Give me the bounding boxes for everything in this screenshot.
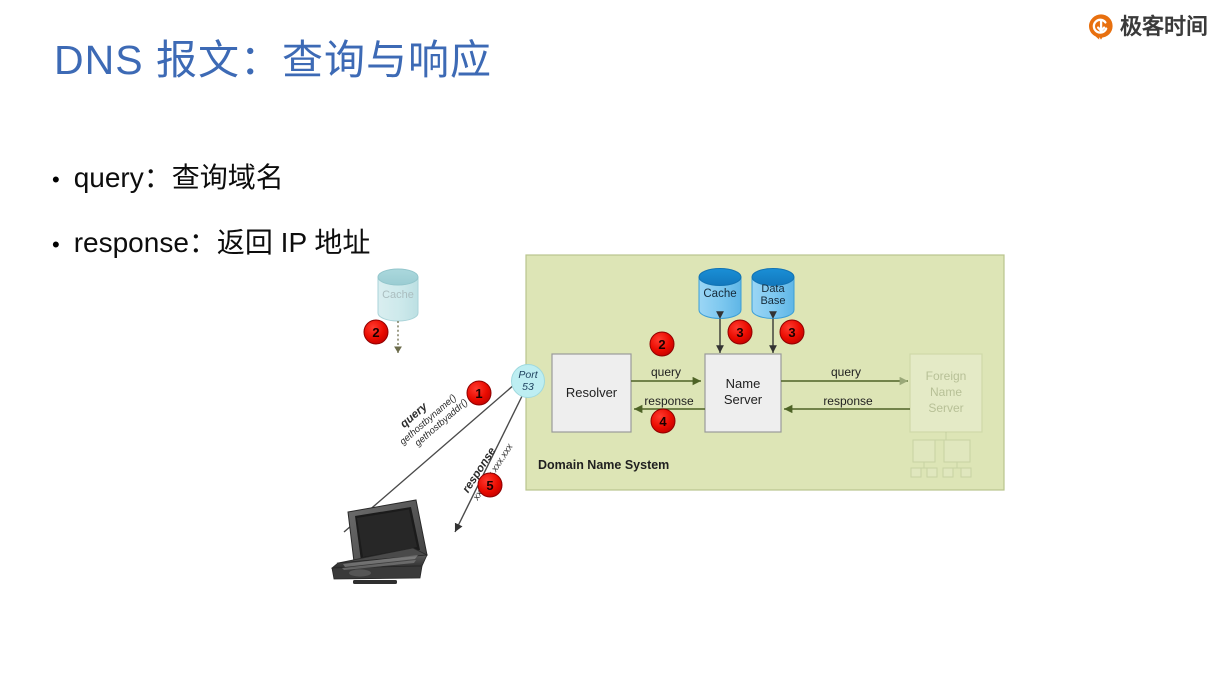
step-badge-2-query-number: 2 xyxy=(658,337,665,352)
port-badge-line2: 53 xyxy=(522,381,534,393)
step-badge-2-cache: 2 xyxy=(364,320,388,344)
client-laptop-icon xyxy=(332,500,427,584)
foreign-name-server-box: Foreign Name Server xyxy=(910,354,982,432)
bullet-text: response：返回 IP 地址 xyxy=(74,221,371,261)
resolver-label: Resolver xyxy=(566,385,618,400)
bullet-text: query：查询域名 xyxy=(74,156,284,196)
name-server-database-cylinder: Data Base xyxy=(752,269,794,319)
foreign-name-server-label-line3: Server xyxy=(928,401,963,415)
name-server-label-line2: Server xyxy=(724,392,763,407)
step-badge-3-cache: 3 xyxy=(728,320,752,344)
port-badge-line1: Port xyxy=(518,369,538,381)
bullet-marker: • xyxy=(52,234,60,256)
client-query-label: query gethostbyname() gethostbyaddr() xyxy=(389,379,470,456)
step-badge-4-number: 4 xyxy=(659,414,667,429)
step-badge-3-cache-number: 3 xyxy=(736,325,743,340)
brand-name: 极客时间 xyxy=(1120,16,1208,38)
step-badge-2-query: 2 xyxy=(650,332,674,356)
name-server-label-line1: Name xyxy=(726,376,761,391)
name-server-database-label-line2: Base xyxy=(760,295,785,307)
ns-to-resolver-response-label: response xyxy=(644,394,694,408)
dns-architecture-diagram: query gethostbyname() gethostbyaddr() re… xyxy=(330,250,1020,595)
step-badge-2-cache-number: 2 xyxy=(372,325,379,340)
step-badge-5: 5 xyxy=(478,473,502,497)
name-server-box: Name Server xyxy=(705,354,781,432)
ns-to-foreign-query-label: query xyxy=(831,365,861,379)
dns-panel-caption: Domain Name System xyxy=(538,458,669,472)
geektime-logo-icon xyxy=(1088,14,1114,40)
port-53-badge: Port 53 xyxy=(512,365,545,398)
name-server-cache-cylinder: Cache xyxy=(699,269,741,319)
step-badge-1: 1 xyxy=(467,381,491,405)
bullet-item-response: • response：返回 IP 地址 xyxy=(52,221,370,261)
foreign-name-server-label-line1: Foreign xyxy=(926,369,967,383)
step-badge-1-number: 1 xyxy=(475,386,482,401)
name-server-cache-label: Cache xyxy=(703,288,736,300)
resolver-to-ns-query-label: query xyxy=(651,365,681,379)
step-badge-4: 4 xyxy=(651,409,675,433)
resolver-cache-cylinder: Cache xyxy=(378,269,418,321)
step-badge-5-number: 5 xyxy=(486,478,493,493)
bullet-marker: • xyxy=(52,169,60,191)
step-badge-3-database: 3 xyxy=(780,320,804,344)
bullet-item-query: • query：查询域名 xyxy=(52,156,284,196)
resolver-cache-label: Cache xyxy=(382,289,414,301)
page-title: DNS 报文：查询与响应 xyxy=(54,26,492,86)
foreign-name-server-label-line2: Name xyxy=(930,385,962,399)
step-badge-3-database-number: 3 xyxy=(788,325,795,340)
foreign-to-ns-response-label: response xyxy=(823,394,873,408)
resolver-box: Resolver xyxy=(552,354,631,432)
brand-logo: 极客时间 xyxy=(1088,14,1208,40)
name-server-database-label-line1: Data xyxy=(761,283,785,295)
